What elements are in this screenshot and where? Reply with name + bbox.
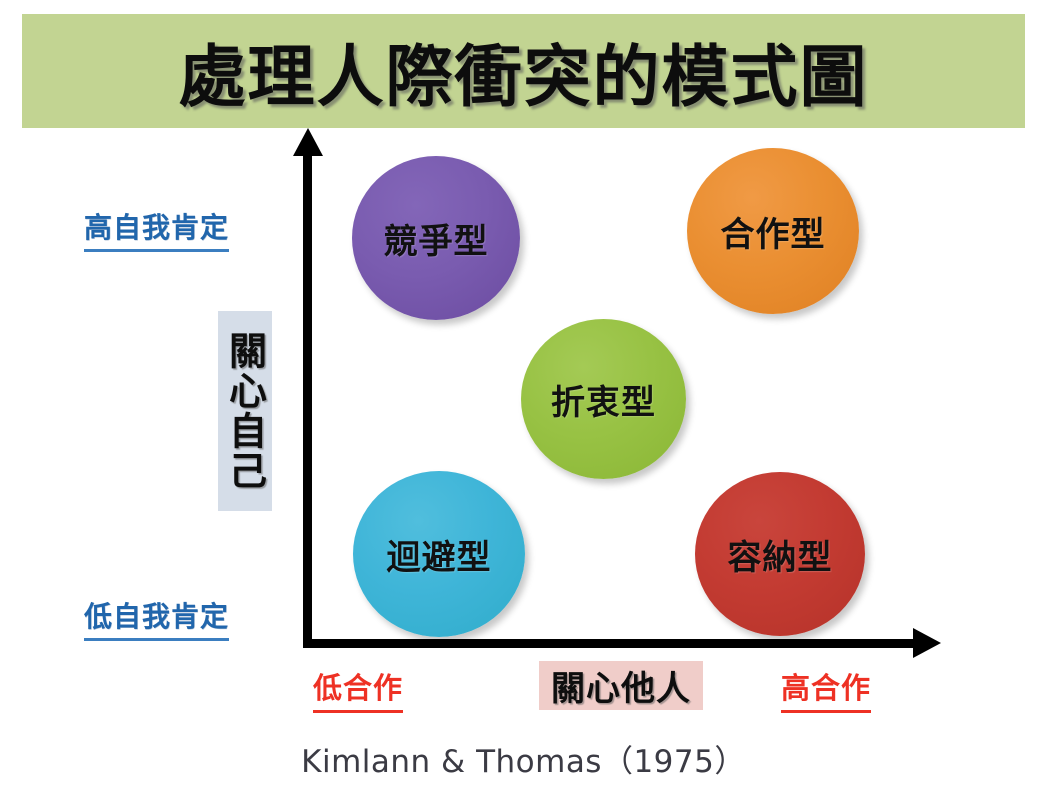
x-axis-arrow-icon — [913, 628, 941, 658]
citation-text: Kimlann & Thomas（1975） — [0, 736, 1047, 781]
x-axis-high-label: 高合作 — [781, 665, 871, 713]
y-axis-high-label: 高自我肯定 — [84, 206, 229, 252]
slide-canvas: 處理人際衝突的模式圖 競爭型 合作型 折衷型 迴避型 容納型 高自我肯定 低自我… — [0, 0, 1047, 787]
x-axis-low-label: 低合作 — [313, 665, 403, 713]
bubble-compromising[interactable]: 折衷型 — [521, 319, 686, 479]
bubble-avoiding[interactable]: 迴避型 — [353, 471, 525, 637]
bubble-collaborating[interactable]: 合作型 — [687, 148, 859, 314]
page-title: 處理人際衝突的模式圖 — [22, 14, 1025, 128]
y-axis-low-label: 低自我肯定 — [84, 595, 229, 641]
bubble-competing[interactable]: 競爭型 — [352, 156, 520, 320]
y-axis-title: 關心自己 — [218, 311, 272, 511]
x-axis-line — [303, 639, 917, 648]
y-axis-line — [303, 152, 312, 646]
x-axis-title: 關心他人 — [539, 661, 703, 710]
y-axis-arrow-icon — [293, 128, 323, 156]
bubble-accommodating[interactable]: 容納型 — [695, 472, 865, 636]
